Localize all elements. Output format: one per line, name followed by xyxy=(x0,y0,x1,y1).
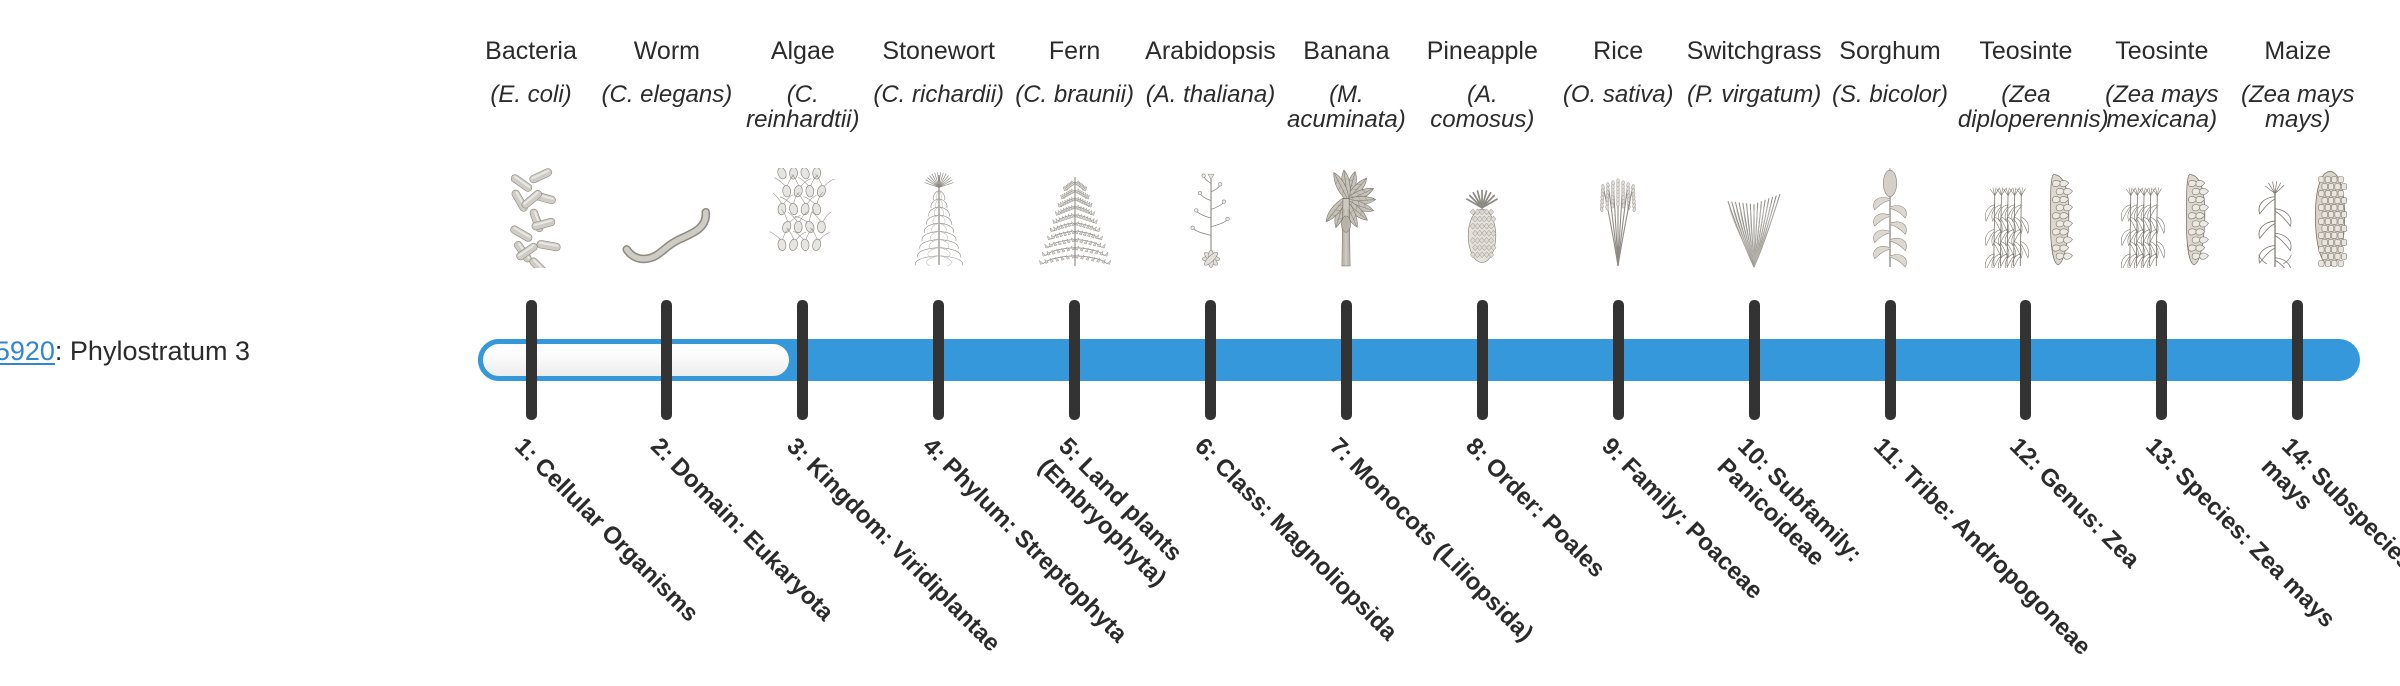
species-latin-name: (M. acuminata) xyxy=(1278,82,1414,144)
species-column-8: Pineapple(A. comosus) xyxy=(1414,38,1550,144)
species-illustration-7 xyxy=(1278,168,1414,268)
rank-number: 11: xyxy=(1868,433,1911,476)
phylostratum-tick-7[interactable] xyxy=(1341,300,1352,420)
rice-icon xyxy=(1574,168,1662,268)
pineapple-icon xyxy=(1446,168,1518,268)
species-illustration-14 xyxy=(2230,168,2366,268)
algae-icon xyxy=(761,168,845,268)
gene-id-link[interactable]: Zm00001eb145920 xyxy=(0,336,55,366)
species-latin-name: (Zea mays mays) xyxy=(2230,82,2366,144)
rank-number: 12: xyxy=(2004,433,2048,477)
rank-name: Genus: Zea xyxy=(2033,462,2145,574)
species-latin-name: (C. braunii) xyxy=(1007,82,1143,144)
phylostratum-tick-4[interactable] xyxy=(933,300,944,420)
phylostratum-timeline: Zm00001eb145920: Phylostratum 3 Bacteria… xyxy=(0,0,2400,580)
rank-name: Order: Poales xyxy=(1480,453,1610,583)
species-illustration-4 xyxy=(871,168,1007,268)
species-latin-name: (E. coli) xyxy=(463,82,599,144)
species-latin-name: (O. sativa) xyxy=(1550,82,1686,144)
species-common-name: Rice xyxy=(1550,38,1686,72)
teosinte-diploperennis-ear-icon xyxy=(2042,168,2076,268)
species-column-13: Teosinte(Zea mays mexicana) xyxy=(2094,38,2230,144)
species-common-name: Algae xyxy=(735,38,871,72)
rank-label-3: 3: Kingdom: Viridiplantae xyxy=(780,432,1013,665)
species-common-name: Fern xyxy=(1007,38,1143,72)
species-latin-name: (C. reinhardtii) xyxy=(735,82,871,144)
species-illustration-13 xyxy=(2094,168,2230,268)
species-column-9: Rice(O. sativa) xyxy=(1550,38,1686,144)
phylostratum-tick-5[interactable] xyxy=(1069,300,1080,420)
species-common-name: Worm xyxy=(599,38,735,72)
species-illustration-10 xyxy=(1686,168,1822,268)
species-common-name: Teosinte xyxy=(2094,38,2230,72)
species-column-5: Fern(C. braunii) xyxy=(1007,38,1143,144)
gene-phylostratum-label: Zm00001eb145920: Phylostratum 3 xyxy=(0,335,250,369)
species-common-name: Maize xyxy=(2230,38,2366,72)
species-illustration-12 xyxy=(1958,168,2094,268)
phylostratum-tick-1[interactable] xyxy=(526,300,537,420)
species-column-12: Teosinte(Zea diploperennis) xyxy=(1958,38,2094,144)
species-column-4: Stonewort(C. richardii) xyxy=(871,38,1007,144)
phylostratum-tick-9[interactable] xyxy=(1613,300,1624,420)
species-latin-name: (S. bicolor) xyxy=(1822,82,1958,144)
species-latin-name: (A. comosus) xyxy=(1414,82,1550,144)
arabidopsis-icon xyxy=(1173,168,1249,268)
gene-label-separator: : xyxy=(55,336,70,366)
rank-number: 13: xyxy=(2140,433,2184,477)
phylostratum-tick-3[interactable] xyxy=(797,300,808,420)
species-illustration-11 xyxy=(1822,168,1958,268)
species-column-1: Bacteria(E. coli) xyxy=(463,38,599,144)
species-common-name: Arabidopsis xyxy=(1143,38,1279,72)
phylostratum-tick-6[interactable] xyxy=(1205,300,1216,420)
species-common-name: Bacteria xyxy=(463,38,599,72)
stonewort-icon xyxy=(903,168,975,268)
rank-label-1: 1: Cellular Organisms xyxy=(508,432,741,665)
species-common-name: Sorghum xyxy=(1822,38,1958,72)
switchgrass-icon xyxy=(1706,168,1802,268)
species-common-name: Switchgrass xyxy=(1686,38,1822,72)
phylostratum-tick-10[interactable] xyxy=(1749,300,1760,420)
species-common-name: Stonewort xyxy=(871,38,1007,72)
maize-ear-icon xyxy=(2309,168,2351,268)
rank-label-7: 7: Monocots (Liliopsida) xyxy=(1324,432,1557,665)
species-column-7: Banana(M. acuminata) xyxy=(1278,38,1414,144)
species-common-name: Banana xyxy=(1278,38,1414,72)
teosinte-mexicana-ear-icon xyxy=(2178,168,2212,268)
phylostratum-tick-13[interactable] xyxy=(2156,300,2167,420)
rank-label-12: 12: Genus: Zea xyxy=(2003,432,2236,665)
species-column-2: Worm(C. elegans) xyxy=(599,38,735,144)
species-column-3: Algae(C. reinhardtii) xyxy=(735,38,871,144)
phylostratum-tick-12[interactable] xyxy=(2020,300,2031,420)
species-column-14: Maize(Zea mays mays) xyxy=(2230,38,2366,144)
nematode-icon xyxy=(612,206,722,268)
species-latin-name: (C. elegans) xyxy=(599,82,735,144)
species-illustration-2 xyxy=(599,168,735,268)
rank-label-8: 8: Order: Poales xyxy=(1460,432,1693,665)
species-column-11: Sorghum(S. bicolor) xyxy=(1822,38,1958,144)
teosinte-mexicana-plant-icon xyxy=(2112,168,2174,268)
species-illustration-6 xyxy=(1143,168,1279,268)
species-illustration-9 xyxy=(1550,168,1686,268)
banana-icon xyxy=(1298,168,1394,268)
species-illustration-1 xyxy=(463,168,599,268)
species-common-name: Pineapple xyxy=(1414,38,1550,72)
species-latin-name: (Zea diploperennis) xyxy=(1958,82,2094,144)
rank-label-2: 2: Domain: Eukaryota xyxy=(644,432,877,665)
species-illustration-3 xyxy=(735,168,871,268)
phylostratum-value-text: Phylostratum 3 xyxy=(70,336,250,366)
phylostratum-tick-2[interactable] xyxy=(661,300,672,420)
phylostratum-tick-11[interactable] xyxy=(1885,300,1896,420)
maize-plant-icon xyxy=(2245,168,2305,268)
species-illustration-8 xyxy=(1414,168,1550,268)
fern-icon xyxy=(1027,168,1123,268)
phylostratum-progress-bar[interactable] xyxy=(478,339,2360,381)
species-common-name: Teosinte xyxy=(1958,38,2094,72)
species-column-6: Arabidopsis(A. thaliana) xyxy=(1143,38,1279,144)
species-illustration-5 xyxy=(1007,168,1143,268)
species-latin-name: (Zea mays mexicana) xyxy=(2094,82,2230,144)
species-latin-name: (P. virgatum) xyxy=(1686,82,1822,144)
species-latin-name: (C. richardii) xyxy=(871,82,1007,144)
teosinte-diploperennis-plant-icon xyxy=(1976,168,2038,268)
species-latin-name: (A. thaliana) xyxy=(1143,82,1279,144)
bacteria-icon xyxy=(490,168,572,268)
species-column-10: Switchgrass(P. virgatum) xyxy=(1686,38,1822,144)
sorghum-icon xyxy=(1852,168,1928,268)
phylostratum-tick-8[interactable] xyxy=(1477,300,1488,420)
phylostratum-tick-14[interactable] xyxy=(2292,300,2303,420)
